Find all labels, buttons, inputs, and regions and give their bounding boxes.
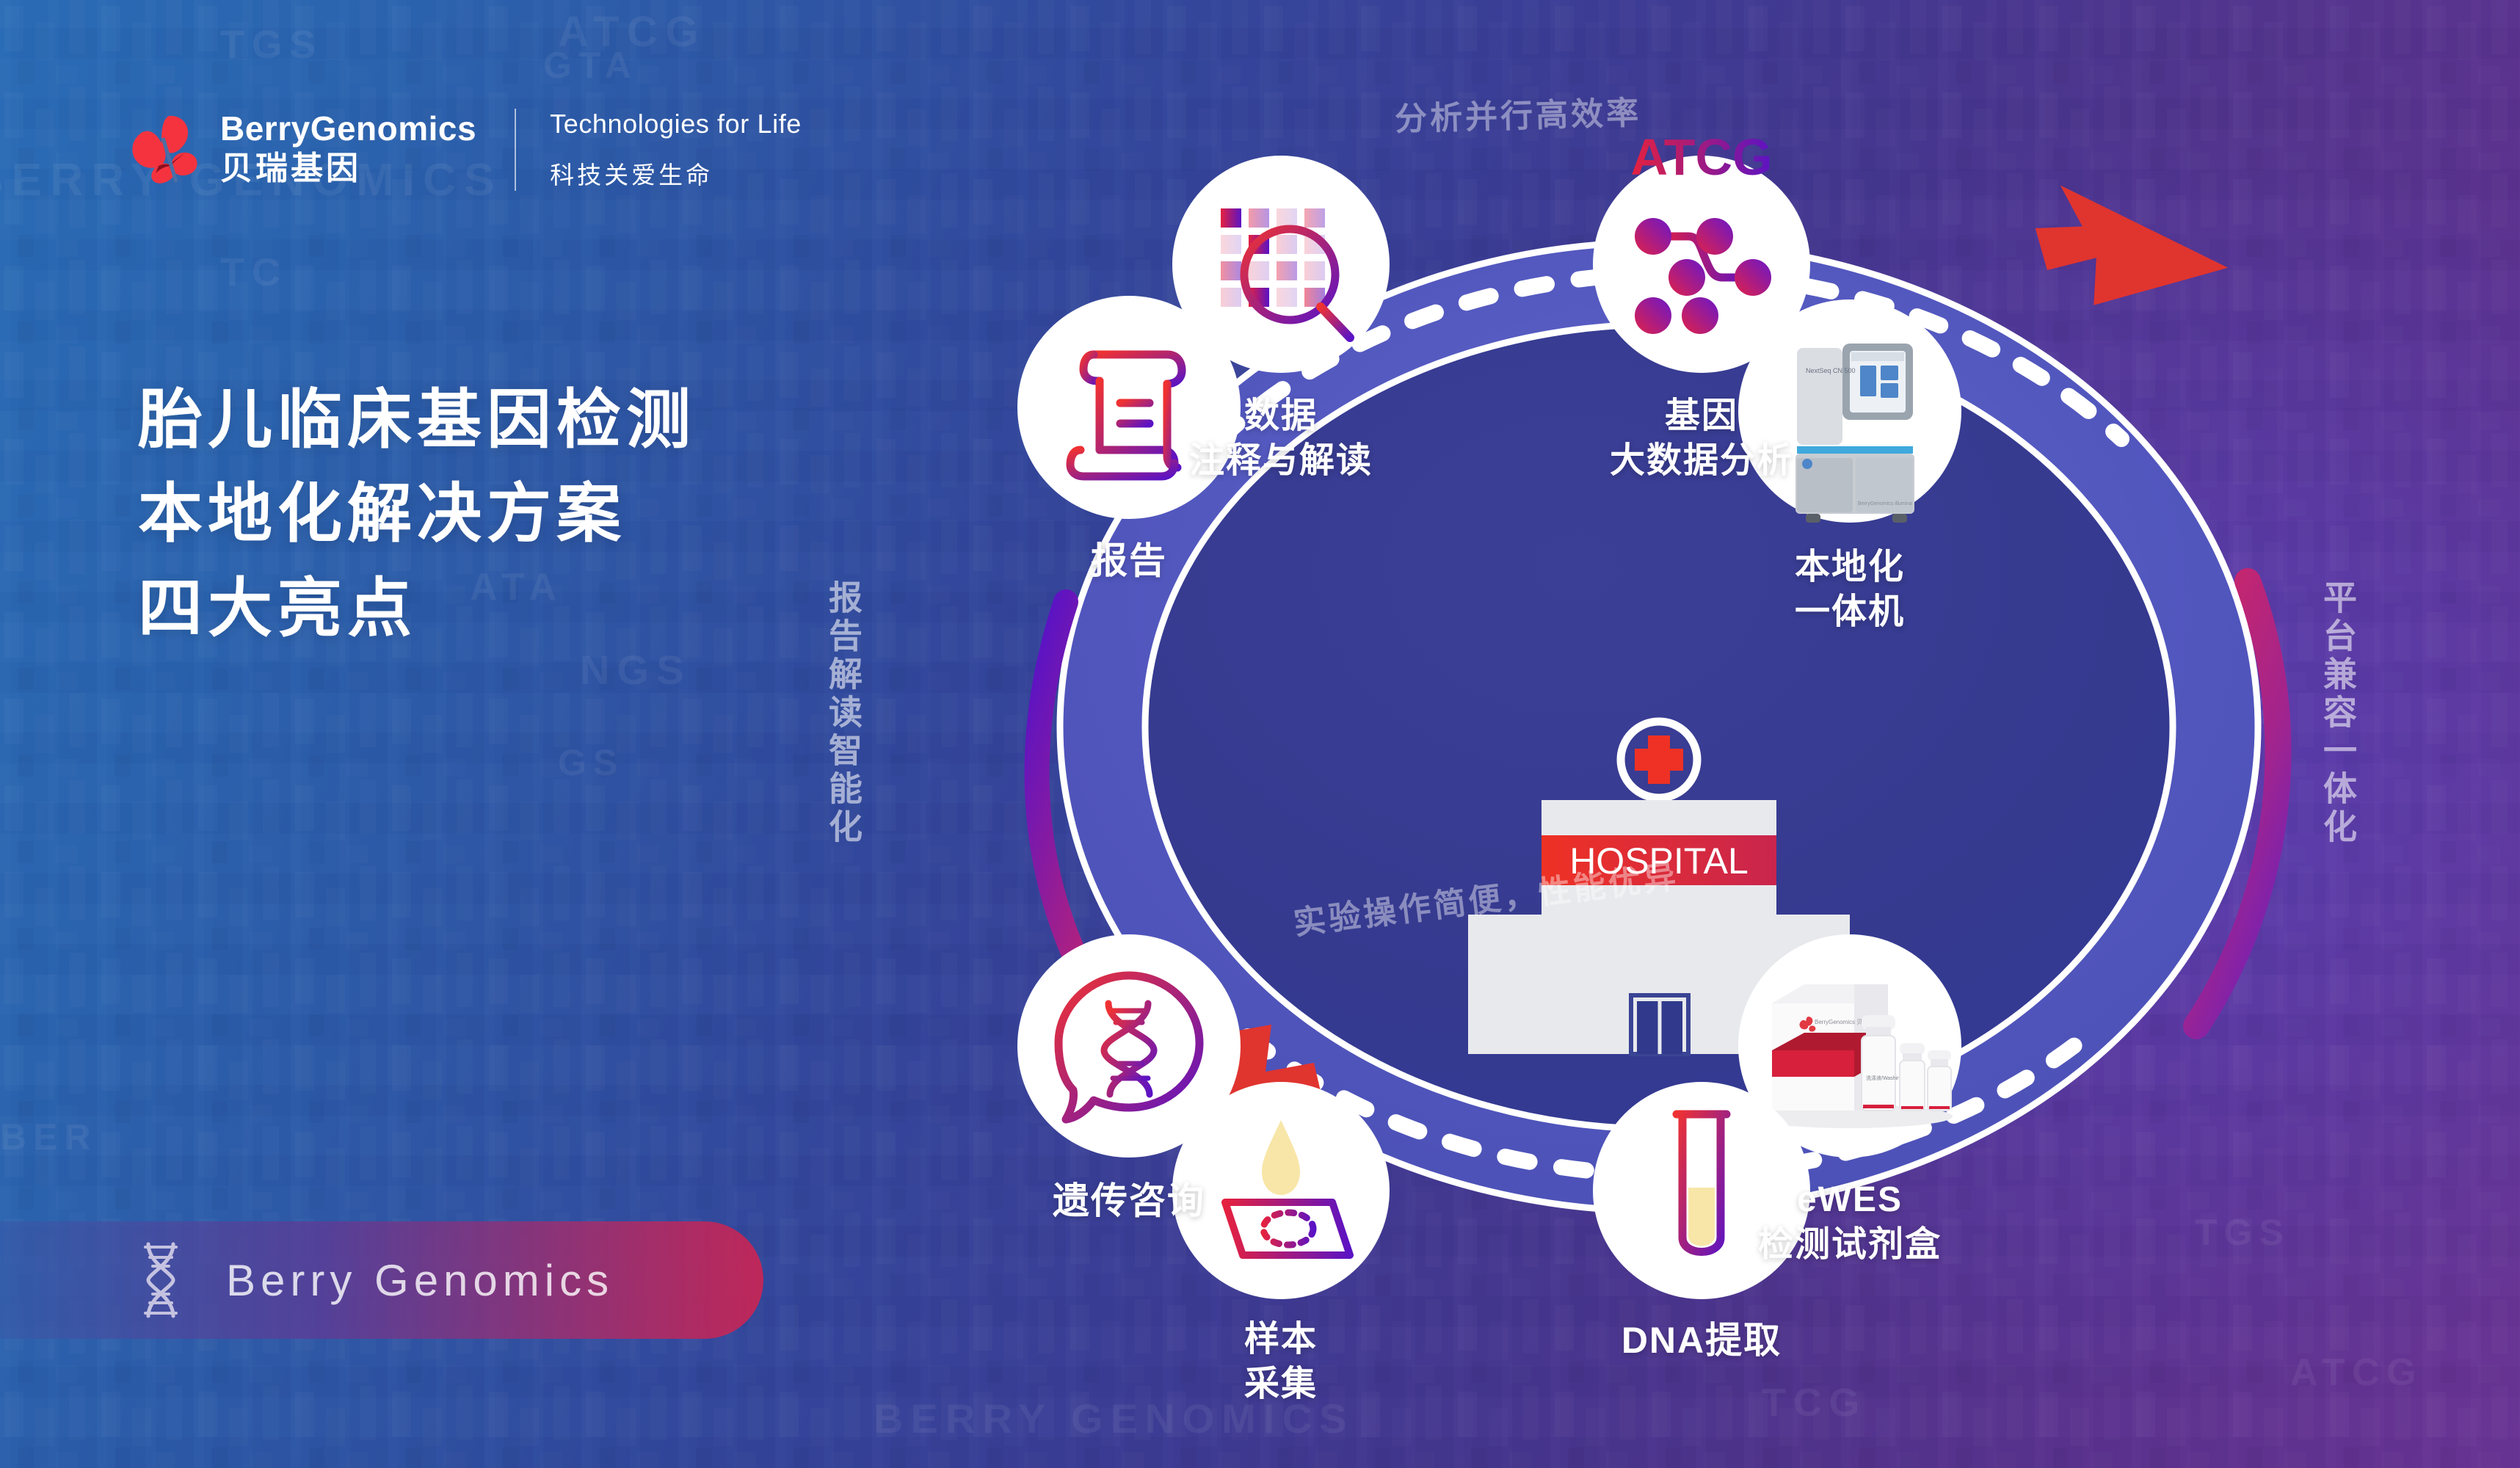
watermark-text: TGS xyxy=(220,22,323,68)
node-label-local-machine: 本地化 一体机 xyxy=(1740,545,1960,635)
atcg-text: ATCG xyxy=(1630,132,1772,186)
node-label-ewes-kit: eWES 检测试剂盒 xyxy=(1740,1177,1960,1268)
atcg-network-icon xyxy=(1630,218,1771,334)
butterfly-logo-icon xyxy=(125,112,207,188)
header-divider xyxy=(515,109,516,191)
side-caption-left: 报告解读智能化 xyxy=(819,580,868,847)
node-label-sample-collection: 样本 采集 xyxy=(1171,1317,1391,1407)
tagline-en: Technologies for Life xyxy=(550,109,802,139)
node-label-report: 报告 xyxy=(1019,537,1239,584)
brand-header: BerryGenomics 贝瑞基因 Technologies for Life… xyxy=(125,109,802,191)
watermark-text: BER xyxy=(0,1116,98,1158)
title-line-2: 本地化解决方案 xyxy=(138,467,696,561)
process-cycle-diagram: HOSPITAL xyxy=(807,132,2510,1468)
logo-text-cn: 贝瑞基因 xyxy=(220,149,476,189)
node-label-big-data: 基因 大数据分析 xyxy=(1591,393,1812,484)
poster-canvas: BERRY GENOMICS ATCG TGS NGS TCG ATA GTA … xyxy=(0,0,2520,1468)
node-label-dna-extract: DNA提取 xyxy=(1591,1317,1812,1364)
svg-text:BerryGenomics illumina: BerryGenomics illumina xyxy=(1858,501,1912,506)
watermark-text: GTA xyxy=(543,44,638,87)
side-caption-right: 平台兼容一体化 xyxy=(2314,580,2362,847)
title-line-3: 四大亮点 xyxy=(138,562,696,655)
dna-helix-icon xyxy=(139,1241,182,1319)
watermark-text: TC xyxy=(220,250,287,295)
watermark-text: GS xyxy=(558,741,624,784)
brand-pill-label: Berry Genomics xyxy=(226,1255,614,1306)
page-title: 胎儿临床基因检测 本地化解决方案 四大亮点 xyxy=(138,373,696,655)
node-label-genetic-consult: 遗传咨询 xyxy=(1019,1177,1239,1224)
node-data-annotation[interactable] xyxy=(1172,156,1390,373)
node-label-data-annotation: 数据 注释与解读 xyxy=(1171,393,1391,484)
tagline-cn: 科技关爱生命 xyxy=(550,156,802,191)
device-model-text: NextSeq CN 500 xyxy=(1806,367,1856,374)
arrow-upper-right xyxy=(2033,174,2230,309)
logo-text-en: BerryGenomics xyxy=(220,111,476,146)
arc-caption-top: 分析并行高效率 xyxy=(1394,87,1642,140)
brand-pill: Berry Genomics xyxy=(0,1221,763,1339)
title-line-1: 胎儿临床基因检测 xyxy=(138,373,696,467)
node-genetic-consult[interactable] xyxy=(1017,934,1241,1158)
